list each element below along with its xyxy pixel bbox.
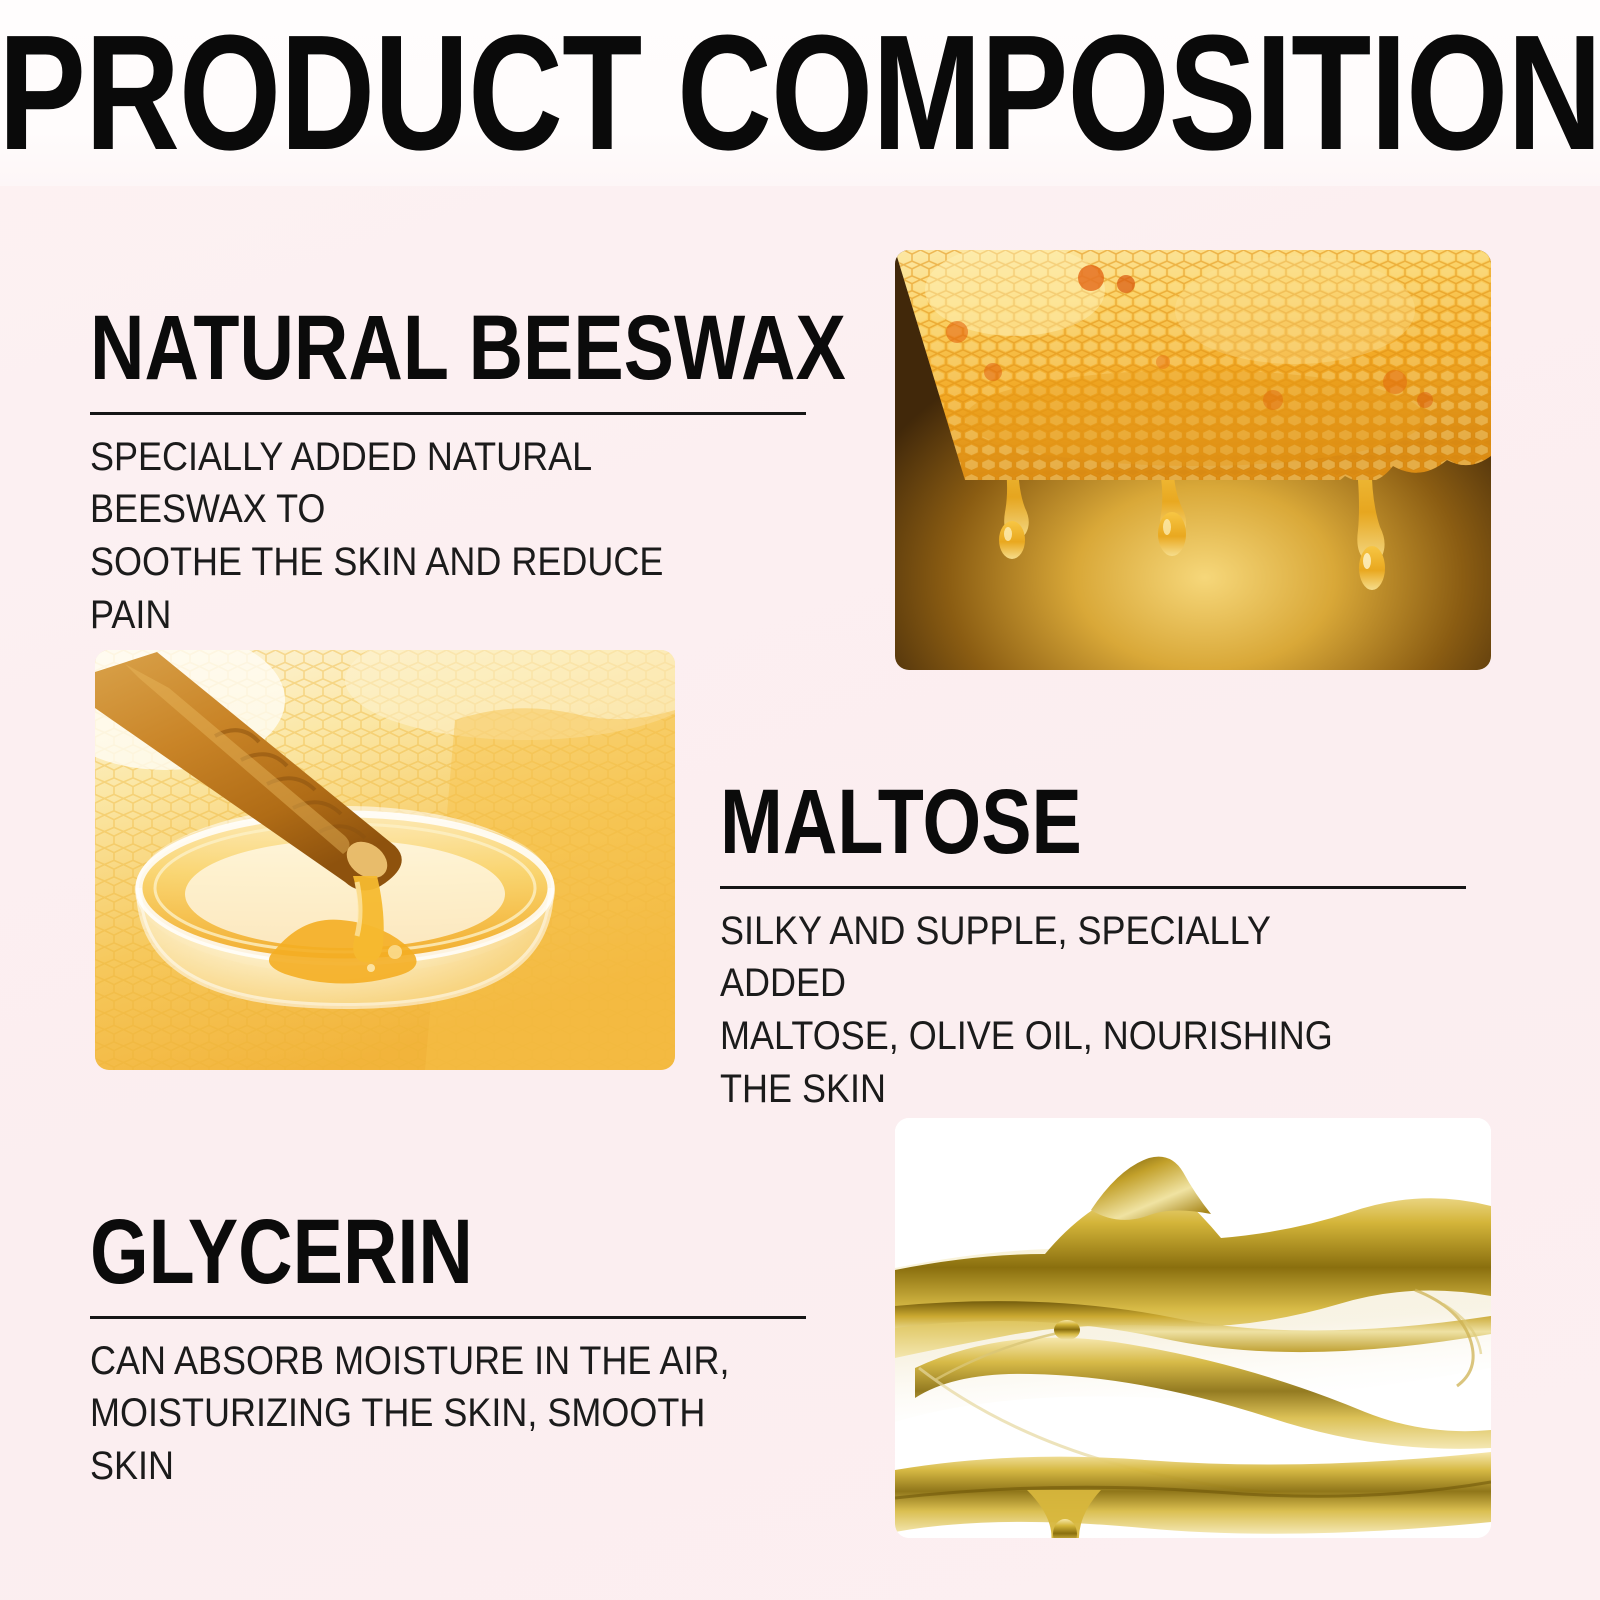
- section-glycerin-body: CAN ABSORB MOISTURE IN THE AIR, MOISTURI…: [90, 1335, 747, 1493]
- product-composition-poster: PRODUCT COMPOSITION NATURAL BEESWAX SPEC…: [0, 0, 1600, 1600]
- section-beeswax-divider: [90, 412, 806, 415]
- section-glycerin-heading: GLYCERIN: [90, 1216, 689, 1290]
- honeycomb-slab: [895, 250, 1491, 480]
- section-maltose-heading: MALTOSE: [720, 786, 1343, 860]
- honey-dipper-bowl-photo: [95, 650, 675, 1070]
- golden-oil-splash-photo: [895, 1118, 1491, 1538]
- section-glycerin-text: GLYCERIN CAN ABSORB MOISTURE IN THE AIR,…: [90, 1216, 820, 1493]
- section-maltose-body: SILKY AND SUPPLE, SPECIALLY ADDED MALTOS…: [720, 905, 1404, 1116]
- section-maltose-text: MALTOSE SILKY AND SUPPLE, SPECIALLY ADDE…: [720, 786, 1480, 1116]
- section-beeswax-body: SPECIALLY ADDED NATURAL BEESWAX TO SOOTH…: [90, 431, 747, 642]
- section-maltose-divider: [720, 886, 1466, 889]
- page-title: PRODUCT COMPOSITION: [0, 26, 1600, 160]
- honeycomb-dripping-honey-photo: [895, 250, 1491, 670]
- section-beeswax-heading: NATURAL BEESWAX: [90, 312, 689, 386]
- oil-splash-illustration: [895, 1118, 1491, 1538]
- honey-dipper-illustration: [95, 650, 675, 1070]
- section-beeswax-text: NATURAL BEESWAX SPECIALLY ADDED NATURAL …: [90, 312, 820, 642]
- section-glycerin-divider: [90, 1316, 806, 1319]
- header-band: PRODUCT COMPOSITION: [0, 0, 1600, 186]
- honeycomb-illustration: [895, 250, 1491, 670]
